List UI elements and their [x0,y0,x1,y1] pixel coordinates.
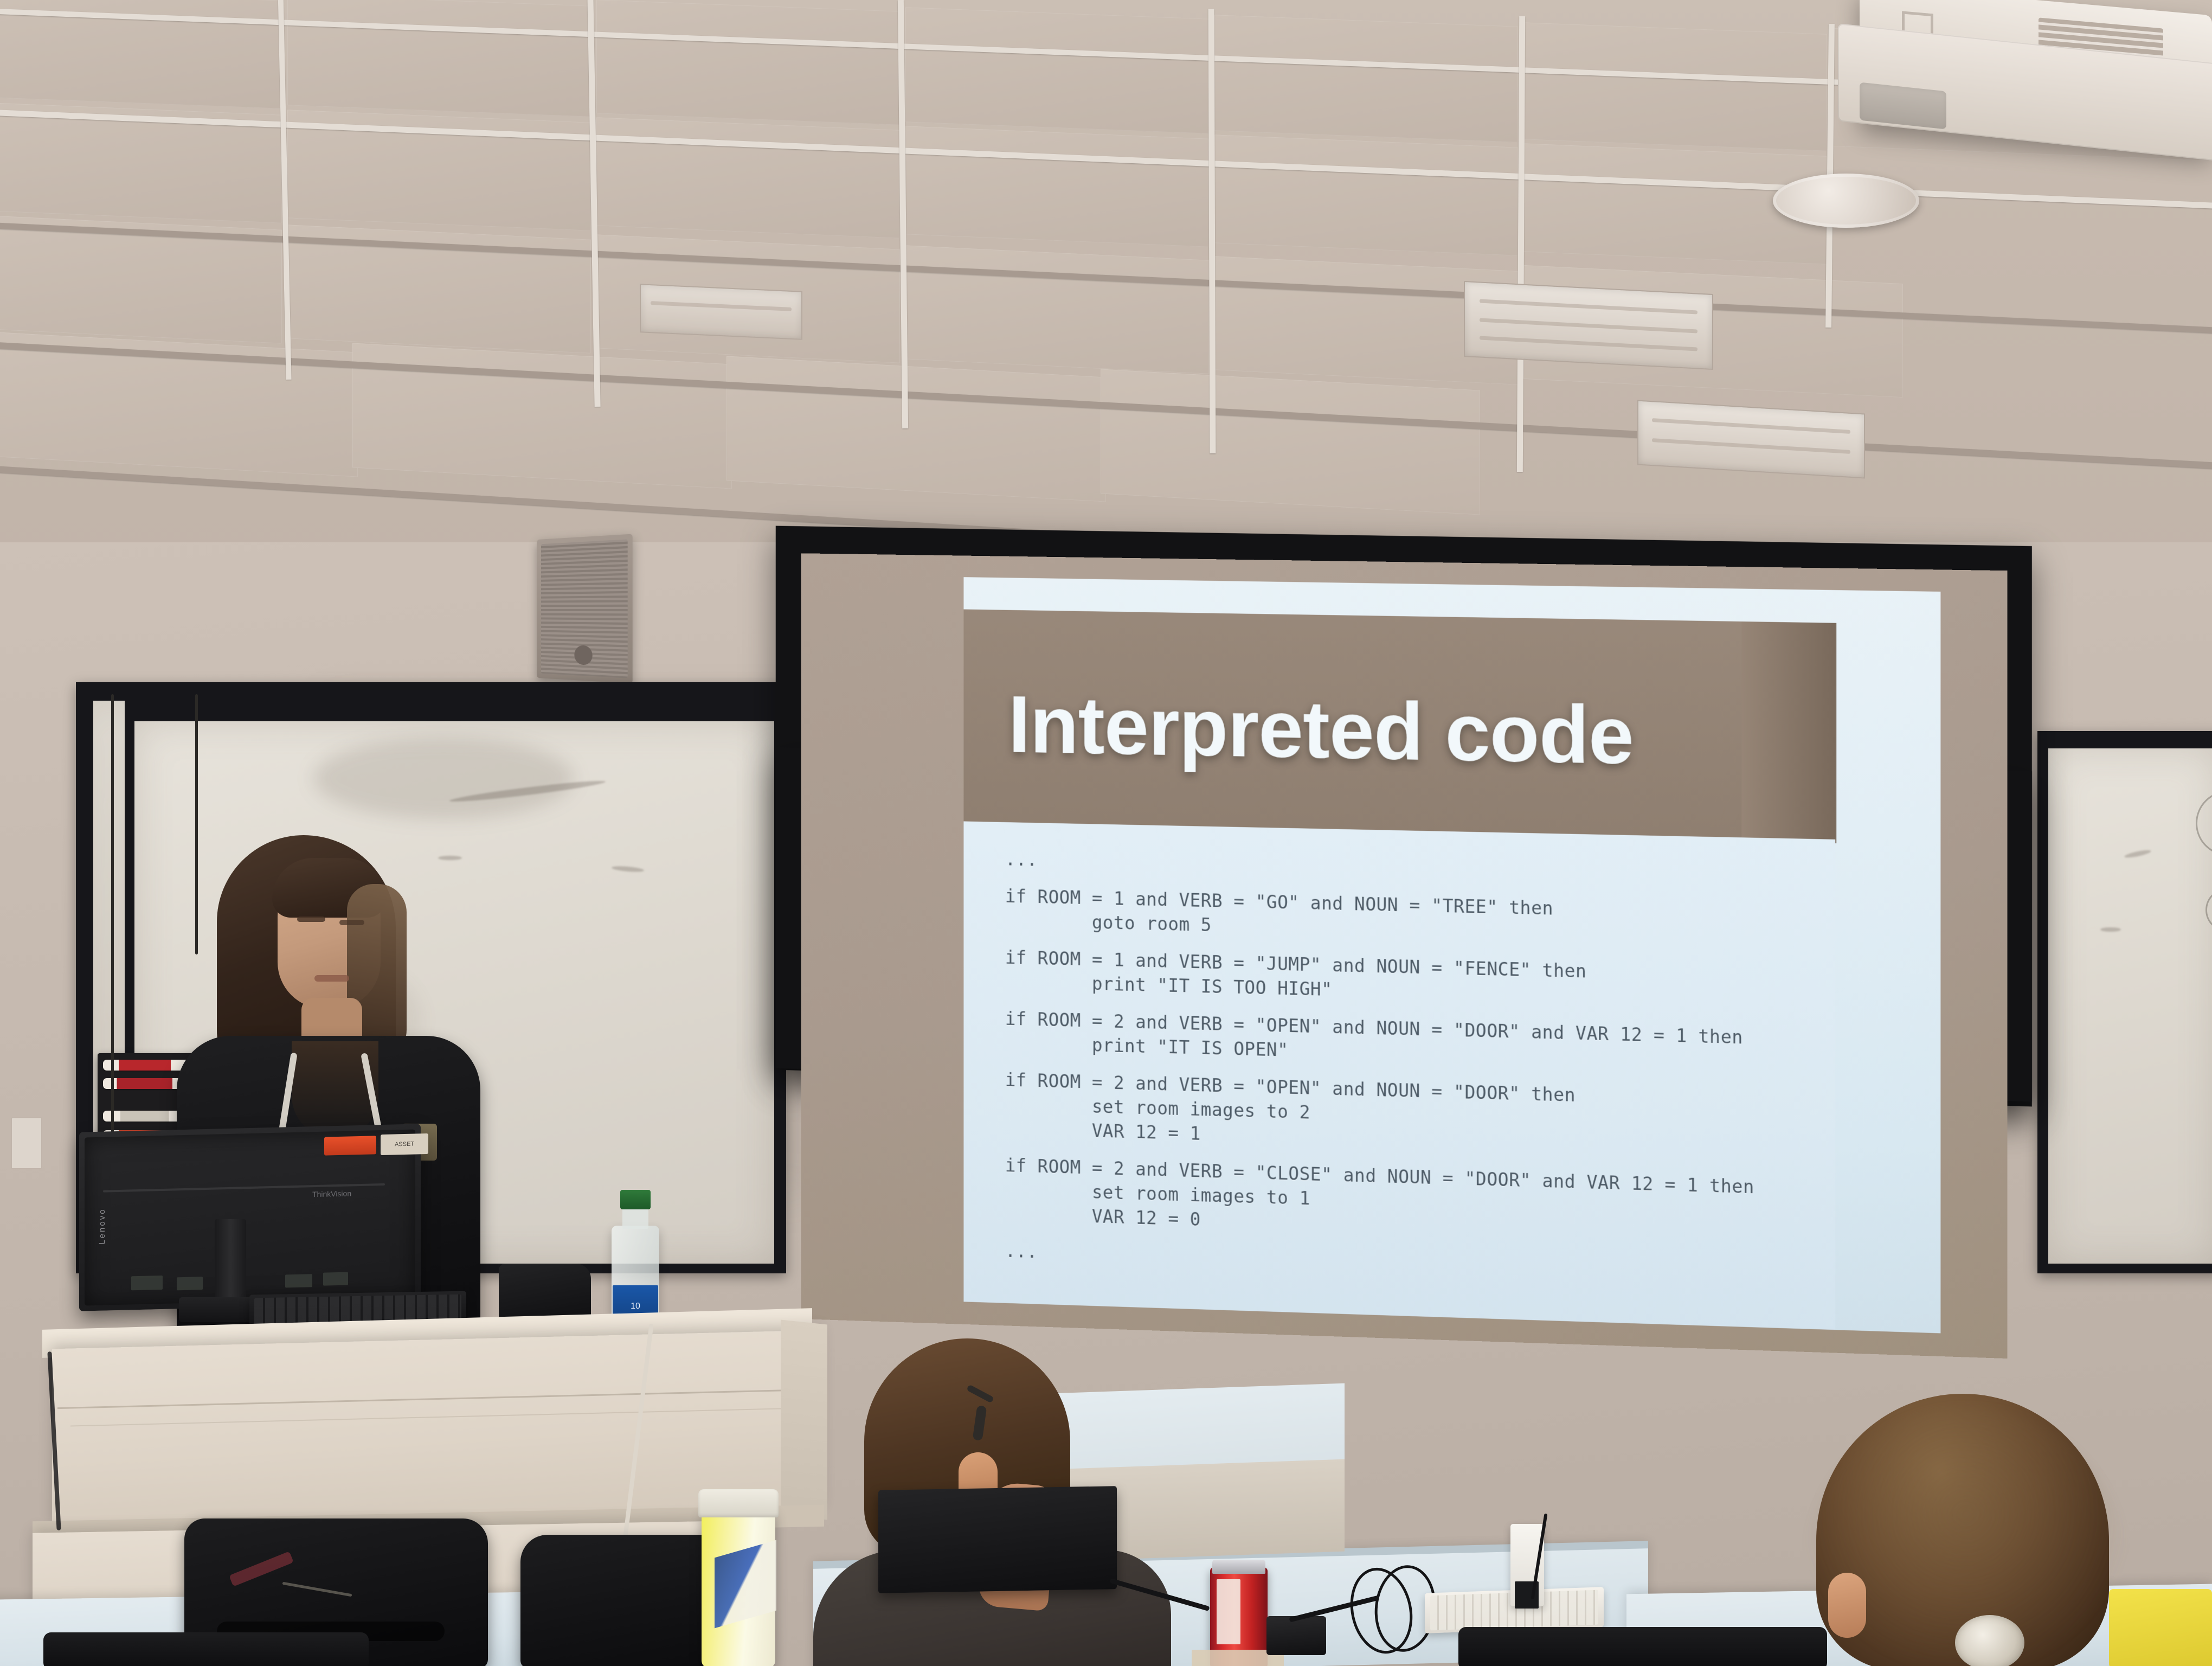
projected-image-area: Interpreted code ...if ROOM = 1 and VERB… [963,577,1940,1333]
ceiling-tile [905,7,1209,134]
monitor-port [177,1277,203,1290]
monitor-port [131,1276,163,1290]
presenter-mouth [314,975,349,982]
ceiling-tile [905,126,1209,247]
wall-speaker [537,534,632,684]
water-bottle-cap [620,1190,651,1209]
presenter-eye [339,920,364,925]
yellow-folder [2109,1589,2212,1666]
monitor-warning-label [324,1136,376,1155]
whiteboard-mark [2100,927,2121,932]
whiteboard-mark [612,865,645,873]
chair-back [1458,1627,1827,1666]
ceiling-tile [1101,369,1480,515]
soda-can-top [1212,1560,1265,1574]
audience-right-ear [1828,1573,1866,1638]
monitor-port [285,1274,312,1287]
slide-code-block: ...if ROOM = 1 and VERB = "GO" and NOUN … [1005,850,1835,1292]
ceiling-tile [596,117,900,238]
soda-can-label [1217,1579,1240,1644]
ceiling-tile [596,0,900,125]
wipes-lid [698,1489,779,1517]
laptop[interactable] [878,1486,1117,1593]
ceiling-air-vent [1637,400,1865,479]
ceiling-air-vent [1464,281,1713,370]
presenter-eye [297,917,325,922]
classroom-photo-scene: Interpreted code ...if ROOM = 1 and VERB… [0,0,2212,1666]
lectern-seam [57,1389,816,1409]
backpack-zipper [282,1582,352,1597]
whiteboard-right [2048,748,2212,1264]
whiteboard-mark [2205,888,2212,932]
monitor-port [323,1272,348,1286]
power-brick [1266,1616,1326,1655]
wall-outlet-plate [11,1117,42,1169]
lectern-monitor: ASSET Lenovo ThinkVision [79,1124,421,1311]
smoke-detector-icon [1773,174,1919,228]
audience-right-scrunchie [1955,1615,2024,1666]
ceiling-tile [287,0,591,117]
ceiling-tile [1214,134,1518,255]
projection-screen-surface: Interpreted code ...if ROOM = 1 and VERB… [801,553,2007,1359]
whiteboard-mark [2196,791,2212,856]
lectern-side-panel [781,1319,827,1520]
speaker-knob [574,645,592,665]
wipes-label-band [715,1540,776,1629]
ceiling-tile [905,245,1209,374]
whiteboard-smudge [313,738,574,819]
ceiling-tile [726,356,1106,502]
chair-back [43,1632,369,1666]
lectern-seam [70,1407,808,1426]
monitor-brand-label: Lenovo [98,1208,107,1245]
monitor-model-label: ThinkVision [312,1185,399,1201]
slide-title-band-shadow [1741,621,1836,843]
audience-member-right [1800,1394,2136,1666]
ceiling-tile [1523,22,1827,151]
disinfecting-wipes-canister [702,1509,775,1666]
slide-title: Interpreted code [1008,678,1634,783]
monitor-asset-label: ASSET [381,1133,428,1155]
backpack-accent [229,1551,294,1586]
ceiling-air-vent [640,284,802,340]
whiteboard-mark [2124,849,2152,859]
slide-body: ...if ROOM = 1 and VERB = "GO" and NOUN … [963,821,1835,1332]
ceiling-tile [1214,15,1518,143]
